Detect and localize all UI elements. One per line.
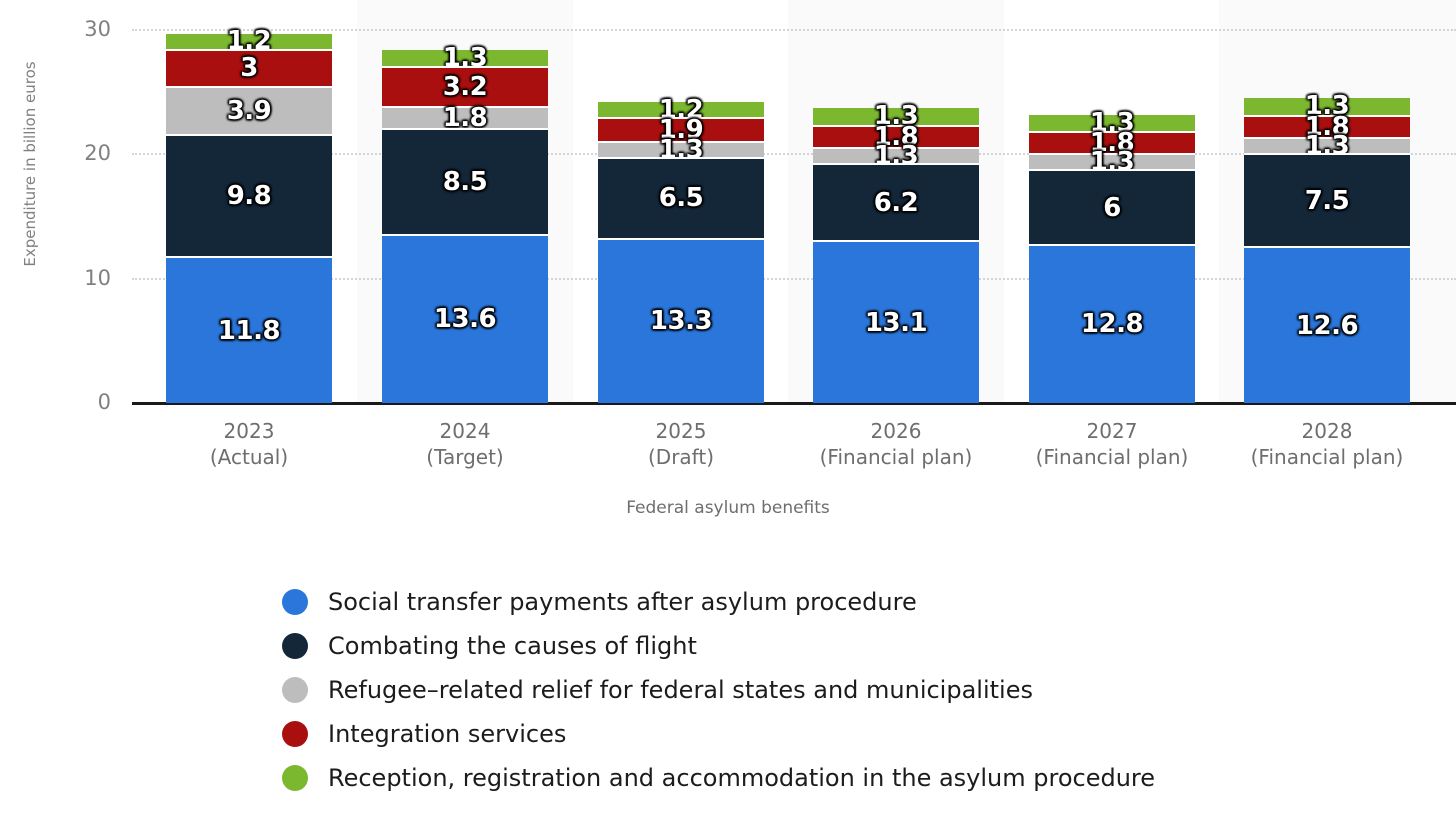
- bar-segment[interactable]: 9.8: [166, 134, 332, 256]
- x-axis-tick-line: 2025: [556, 418, 806, 444]
- bar-value-label: 6.5: [598, 183, 764, 213]
- bar-value-label: 8.5: [382, 167, 548, 197]
- bar-segment[interactable]: 1.3: [813, 108, 979, 124]
- bar-value-label: 6.2: [813, 188, 979, 218]
- bar-value-label: 13.6: [382, 304, 548, 334]
- y-axis-tick-label: 20: [0, 141, 111, 165]
- bar-group[interactable]: 1.21.91.36.513.3: [598, 102, 764, 403]
- x-axis-tick-line: 2028: [1202, 418, 1452, 444]
- bar-segment[interactable]: 3.9: [166, 86, 332, 134]
- x-axis-tick-label: 2028(Financial plan): [1202, 418, 1452, 470]
- bar-segment[interactable]: 13.3: [598, 238, 764, 403]
- bar-segment[interactable]: 1.2: [598, 102, 764, 117]
- bar-group[interactable]: 1.31.81.3612.8: [1029, 115, 1195, 403]
- bar-segment[interactable]: 1.2: [166, 34, 332, 49]
- x-axis-tick-line: 2026: [771, 418, 1021, 444]
- x-axis-tick-label: 2024(Target): [340, 418, 590, 470]
- legend-color-swatch-icon: [282, 633, 308, 659]
- legend-item-label: Social transfer payments after asylum pr…: [328, 588, 917, 616]
- bar-value-label: 7.5: [1244, 186, 1410, 216]
- x-axis-tick-line: 2023: [124, 418, 374, 444]
- x-axis-tick-label: 2025(Draft): [556, 418, 806, 470]
- bar-value-label: 3.9: [166, 96, 332, 126]
- bar-segment[interactable]: 1.3: [382, 50, 548, 66]
- x-axis-tick-line: 2024: [340, 418, 590, 444]
- bar-value-label: 3.2: [382, 72, 548, 102]
- bar-group[interactable]: 1.31.81.36.213.1: [813, 108, 979, 403]
- bar-segment[interactable]: 1.9: [598, 117, 764, 141]
- x-axis-tick-line: (Financial plan): [1202, 444, 1452, 470]
- y-axis-tick-label: 10: [0, 266, 111, 290]
- bar-segment[interactable]: 3: [166, 49, 332, 86]
- bar-segment[interactable]: 6: [1029, 169, 1195, 244]
- bar-value-label: 13.1: [813, 308, 979, 338]
- bar-value-label: 6: [1029, 193, 1195, 223]
- legend-color-swatch-icon: [282, 765, 308, 791]
- chart-legend: Social transfer payments after asylum pr…: [282, 580, 1155, 800]
- bar-segment[interactable]: 6.5: [598, 157, 764, 238]
- legend-item-label: Combating the causes of flight: [328, 632, 697, 660]
- legend-item[interactable]: Refugee–related relief for federal state…: [282, 668, 1155, 712]
- y-axis-tick-label: 30: [0, 17, 111, 41]
- bar-segment[interactable]: 12.6: [1244, 246, 1410, 403]
- bar-segment[interactable]: 8.5: [382, 128, 548, 234]
- bar-segment[interactable]: 13.6: [382, 234, 548, 403]
- x-axis-tick-line: 2027: [987, 418, 1237, 444]
- legend-item-label: Refugee–related relief for federal state…: [328, 676, 1033, 704]
- y-axis-tick-label: 0: [0, 390, 111, 414]
- bar-segment[interactable]: 1.8: [813, 125, 979, 147]
- x-axis-tick-line: (Financial plan): [771, 444, 1021, 470]
- legend-item[interactable]: Integration services: [282, 712, 1155, 756]
- x-axis-tick-line: (Financial plan): [987, 444, 1237, 470]
- gridline: [132, 29, 1456, 31]
- bar-segment[interactable]: 1.3: [813, 147, 979, 163]
- bar-segment[interactable]: 1.3: [1244, 137, 1410, 153]
- plot-area: 0102030 1.233.99.811.81.33.21.88.513.61.…: [0, 0, 1456, 404]
- x-axis-tick-line: (Target): [340, 444, 590, 470]
- bar-value-label: 3: [166, 53, 332, 83]
- chart-page: 0102030 1.233.99.811.81.33.21.88.513.61.…: [0, 0, 1456, 817]
- x-axis-tick-label: 2023(Actual): [124, 418, 374, 470]
- bar-value-label: 12.8: [1029, 309, 1195, 339]
- y-axis-title: Expenditure in billion euros: [21, 0, 39, 344]
- bar-value-label: 13.3: [598, 306, 764, 336]
- legend-item-label: Integration services: [328, 720, 566, 748]
- x-axis-tick-line: (Actual): [124, 444, 374, 470]
- bar-segment[interactable]: 1.3: [1029, 153, 1195, 169]
- bar-group[interactable]: 1.233.99.811.8: [166, 34, 332, 403]
- legend-item[interactable]: Reception, registration and accommodatio…: [282, 756, 1155, 800]
- x-axis-tick-line: (Draft): [556, 444, 806, 470]
- bar-segment[interactable]: 1.3: [598, 141, 764, 157]
- legend-item[interactable]: Social transfer payments after asylum pr…: [282, 580, 1155, 624]
- bar-segment[interactable]: 7.5: [1244, 153, 1410, 246]
- bar-segment[interactable]: 1.8: [1244, 115, 1410, 137]
- bar-segment[interactable]: 12.8: [1029, 244, 1195, 403]
- bar-value-label: 12.6: [1244, 311, 1410, 341]
- bar-segment[interactable]: 1.3: [1244, 98, 1410, 114]
- bar-segment[interactable]: 1.3: [1029, 115, 1195, 131]
- bar-group[interactable]: 1.31.81.37.512.6: [1244, 98, 1410, 403]
- bar-segment[interactable]: 3.2: [382, 66, 548, 106]
- x-axis-tick-label: 2027(Financial plan): [987, 418, 1237, 470]
- bar-segment[interactable]: 11.8: [166, 256, 332, 403]
- legend-item-label: Reception, registration and accommodatio…: [328, 764, 1155, 792]
- bar-segment[interactable]: 1.8: [1029, 131, 1195, 153]
- x-axis-title: Federal asylum benefits: [0, 498, 1456, 518]
- legend-color-swatch-icon: [282, 589, 308, 615]
- legend-color-swatch-icon: [282, 721, 308, 747]
- legend-item[interactable]: Combating the causes of flight: [282, 624, 1155, 668]
- bar-segment[interactable]: 1.8: [382, 106, 548, 128]
- legend-color-swatch-icon: [282, 677, 308, 703]
- bar-value-label: 11.8: [166, 316, 332, 346]
- bar-segment[interactable]: 6.2: [813, 163, 979, 240]
- bar-value-label: 9.8: [166, 181, 332, 211]
- x-axis-tick-label: 2026(Financial plan): [771, 418, 1021, 470]
- bar-segment[interactable]: 13.1: [813, 240, 979, 403]
- bar-group[interactable]: 1.33.21.88.513.6: [382, 50, 548, 403]
